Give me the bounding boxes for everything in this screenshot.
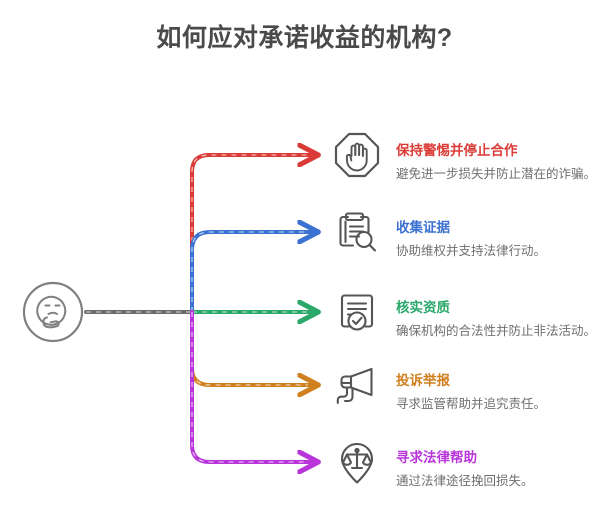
justice-scales-pin-icon (333, 438, 381, 486)
thinking-face-icon (37, 297, 65, 327)
stop-hand-octagon-icon (333, 131, 381, 179)
certificate-check-icon (333, 288, 381, 336)
branch-desc-verify-qualification: 确保机构的合法性并防止非法活动。 (396, 323, 596, 339)
connector-collect-evidence (192, 232, 312, 312)
branch-text-verify-qualification: 核实资质 确保机构的合法性并防止非法活动。 (396, 300, 596, 339)
branch-heading-verify-qualification: 核实资质 (396, 300, 596, 316)
megaphone-icon (333, 362, 381, 410)
branch-desc-seek-legal-help: 通过法律途径挽回损失。 (396, 473, 534, 489)
clipboard-search-icon (333, 208, 381, 256)
branch-text-stay-alert: 保持警惕并停止合作 避免进一步损失并防止潜在的诈骗。 (396, 143, 596, 182)
branch-text-collect-evidence: 收集证据 协助维权并支持法律行动。 (396, 220, 546, 259)
branch-desc-file-complaint: 寻求监管帮助并追究责任。 (396, 396, 546, 412)
branch-text-seek-legal-help: 寻求法律帮助 通过法律途径挽回损失。 (396, 450, 534, 489)
branch-desc-stay-alert: 避免进一步损失并防止潜在的诈骗。 (396, 166, 596, 182)
branch-heading-collect-evidence: 收集证据 (396, 220, 546, 236)
root-node-thinking-face[interactable] (22, 281, 84, 343)
branch-heading-stay-alert: 保持警惕并停止合作 (396, 143, 596, 159)
connector-file-complaint (192, 312, 312, 385)
branch-text-file-complaint: 投诉举报 寻求监管帮助并追究责任。 (396, 373, 546, 412)
branch-heading-file-complaint: 投诉举报 (396, 373, 546, 389)
mindmap-canvas (0, 0, 609, 525)
branch-desc-collect-evidence: 协助维权并支持法律行动。 (396, 243, 546, 259)
branch-heading-seek-legal-help: 寻求法律帮助 (396, 450, 534, 466)
